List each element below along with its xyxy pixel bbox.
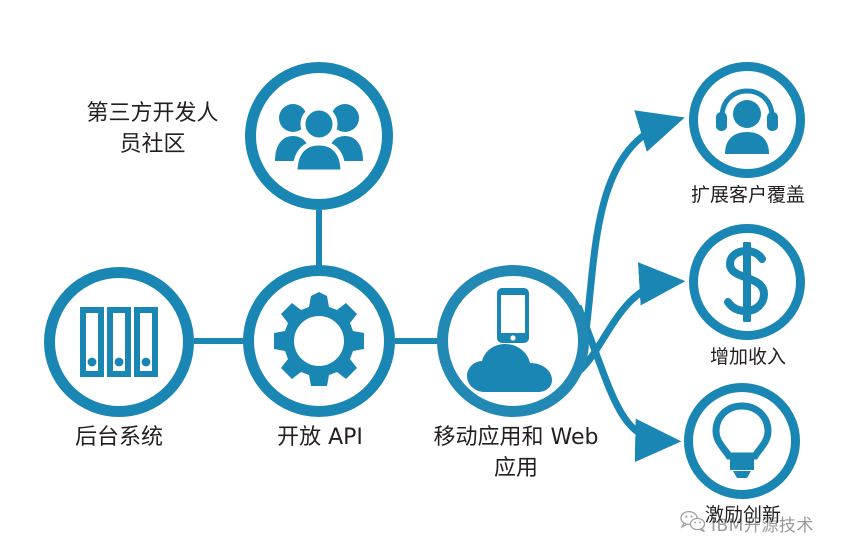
node-backend-system[interactable] [44,267,194,417]
smartphone-glyph [497,288,529,343]
label-mobile-web-apps: 移动应用和 Web 应用 [418,422,614,484]
cloud-glyph [467,344,552,392]
phone-cloud-icon [467,288,559,394]
gear-icon [269,291,369,391]
node-increase-revenue[interactable] [689,224,805,340]
label-developer-community: 第三方开发人 员社区 [60,98,245,160]
node-developer-community[interactable] [245,62,393,210]
people-group-icon [273,99,365,173]
label-expand-customers: 扩展客户覆盖 [660,182,836,209]
label-increase-revenue: 增加收入 [660,344,836,371]
node-mobile-web-apps[interactable] [437,265,589,417]
node-expand-customers[interactable] [689,62,805,178]
connector-apps-to-innovation [578,306,666,441]
watermark: IBM开源技术 [680,503,862,543]
wechat-icon [680,510,706,537]
label-open-api: 开放 API [240,422,400,453]
label-backend-system: 后台系统 [34,422,204,453]
diagram-canvas: 第三方开发人 员社区 后台系统 [0,0,865,553]
dollar-icon [717,242,777,322]
servers-icon [80,307,158,377]
node-spur-innovation[interactable] [684,383,800,499]
watermark-text: IBM开源技术 [711,511,814,536]
headset-person-icon [711,85,783,155]
node-open-api[interactable] [243,265,395,417]
lightbulb-icon [711,402,773,480]
